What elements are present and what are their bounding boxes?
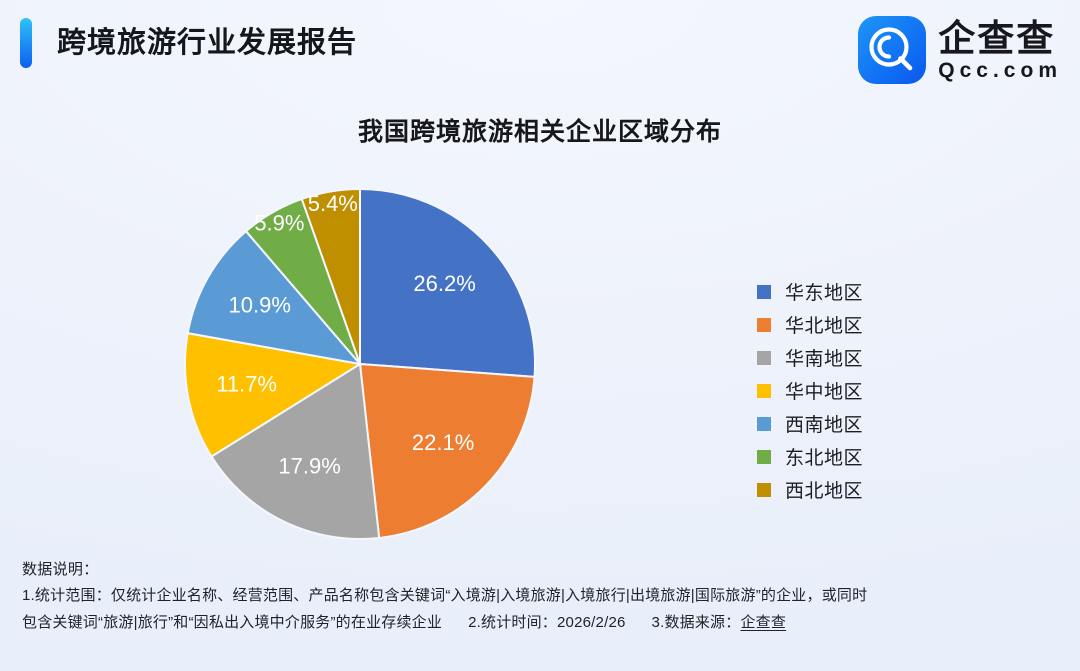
legend-item[interactable]: 西南地区 [757, 407, 957, 440]
pie-slice-group [185, 189, 535, 539]
legend-item-label: 东北地区 [785, 443, 863, 470]
title-accent-bar [20, 18, 32, 68]
legend-color-swatch [757, 351, 771, 365]
legend-item[interactable]: 华中地区 [757, 374, 957, 407]
legend-item[interactable]: 西北地区 [757, 473, 957, 506]
pie-slice-label: 5.9% [254, 210, 304, 235]
pie-slice-label: 26.2% [413, 271, 475, 296]
qcc-magnifier-logo-icon [858, 16, 926, 84]
legend-item-label: 华北地区 [785, 311, 863, 338]
footnote-stat-time: 2.统计时间：2026/2/26 [468, 614, 625, 631]
legend-color-swatch [757, 384, 771, 398]
legend-color-swatch [757, 483, 771, 497]
header: 跨境旅游行业发展报告 企查查 Qcc.com [0, 0, 1080, 100]
legend-item-label: 西南地区 [785, 410, 863, 437]
brand-name-en: Qcc.com [938, 60, 1062, 82]
legend-color-swatch [757, 417, 771, 431]
report-page: 跨境旅游行业发展报告 企查查 Qcc.com 我国跨境旅游相关企业区域分布 26… [0, 0, 1080, 671]
legend-color-swatch [757, 450, 771, 464]
brand-name-cn: 企查查 [938, 19, 1062, 59]
pie-chart: 26.2%22.1%17.9%11.7%10.9%5.9%5.4% [183, 187, 537, 541]
footnote: 数据说明： 1.统计范围：仅统计企业名称、经营范围、产品名称包含关键词“入境游|… [22, 558, 1062, 636]
legend-color-swatch [757, 318, 771, 332]
legend-item[interactable]: 华东地区 [757, 275, 957, 308]
legend-item-label: 华东地区 [785, 278, 863, 305]
legend-item[interactable]: 华南地区 [757, 341, 957, 374]
page-title: 跨境旅游行业发展报告 [57, 20, 357, 66]
pie-slice-label: 22.1% [412, 430, 474, 455]
chart-area: 26.2%22.1%17.9%11.7%10.9%5.9%5.4% 华东地区华北… [0, 165, 1080, 555]
legend-item-label: 华中地区 [785, 377, 863, 404]
pie-slice-label: 11.7% [216, 372, 277, 397]
footnote-line-2: 包含关键词“旅游|旅行”和“因私出入境中介服务”的在业存续企业2.统计时间：20… [22, 609, 1062, 636]
pie-slice-label: 5.4% [308, 191, 358, 216]
legend-color-swatch [757, 285, 771, 299]
brand-wordmark: 企查查 Qcc.com [938, 19, 1062, 82]
pie-slice-label: 10.9% [229, 293, 291, 318]
chart-legend: 华东地区华北地区华南地区华中地区西南地区东北地区西北地区 [757, 275, 957, 506]
legend-item-label: 西北地区 [785, 476, 863, 503]
legend-item[interactable]: 华北地区 [757, 308, 957, 341]
footnote-source-label: 3.数据来源： [652, 614, 741, 631]
pie-slice-label: 17.9% [278, 454, 340, 479]
legend-item-label: 华南地区 [785, 344, 863, 371]
footnote-line-1: 1.统计范围：仅统计企业名称、经营范围、产品名称包含关键词“入境游|入境旅游|入… [22, 582, 1062, 609]
footnote-scope-cont: 包含关键词“旅游|旅行”和“因私出入境中介服务”的在业存续企业 [22, 614, 442, 631]
legend-item[interactable]: 东北地区 [757, 440, 957, 473]
brand-logo: 企查查 Qcc.com [858, 14, 1062, 86]
chart-title: 我国跨境旅游相关企业区域分布 [0, 112, 1080, 148]
footnote-source-value: 企查查 [740, 614, 786, 631]
footnote-heading: 数据说明： [22, 558, 1062, 582]
